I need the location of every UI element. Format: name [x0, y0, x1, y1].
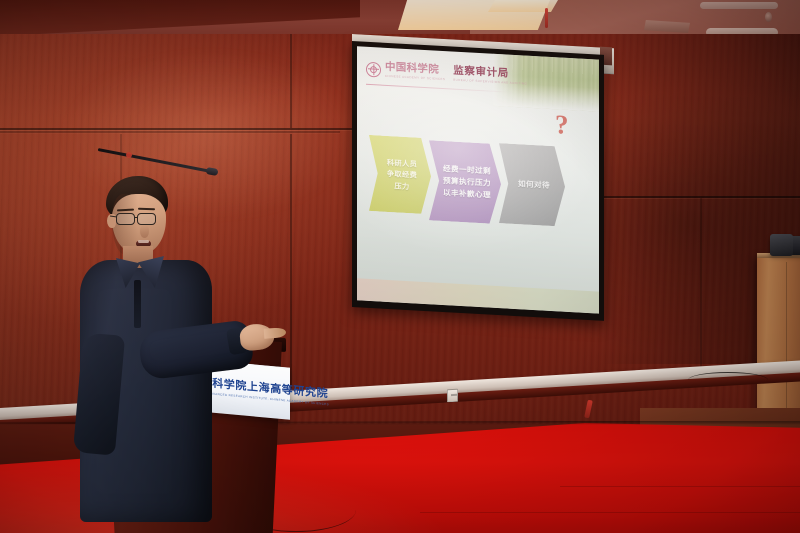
eyeglasses-icon: [137, 213, 156, 225]
wall-power-outlet-icon: [447, 389, 458, 403]
ceiling-sprinkler-icon: [765, 12, 772, 22]
speaker-teeth: [138, 240, 149, 243]
question-mark-graphic: ?: [555, 111, 569, 139]
speaker-nose: [140, 225, 149, 238]
chevron-gray: 如何对待: [499, 143, 565, 227]
ceiling-light-fixture: [700, 2, 778, 9]
eyeglasses-bridge: [135, 217, 138, 218]
cas-emblem-icon: [366, 61, 381, 77]
slide-dept-name-en: BUREAU OF SUPERVISION AND AUDITING: [453, 79, 527, 86]
carpet-seam: [560, 486, 800, 487]
chevron-text-line: 争取经费: [387, 168, 417, 181]
speaker-box: [770, 234, 793, 256]
ceiling-sprinkler-rod: [545, 8, 548, 28]
wall-panel-seam: [0, 128, 352, 130]
lecture-hall-photo: Redleaf 中国科学院 CHINESE ACADEMY OF SCIENCE…: [0, 0, 800, 533]
slide-header-texts: 中国科学院 CHINESE ACADEMY OF SCIENCES: [385, 62, 445, 81]
wall-panel-seam: [290, 134, 292, 408]
chevron-purple: 经费一时过剩 预算执行压力 以丰补歉心理: [429, 140, 501, 224]
speaker-person: [78, 176, 258, 533]
slide-chevron-group: 科研人员 争取经费 压力 经费一时过剩 预算执行压力 以丰补歉心理 如何对待: [369, 135, 565, 228]
wall-cable: [688, 372, 768, 388]
slide-dept-texts: 监察审计局 BUREAU OF SUPERVISION AND AUDITING: [449, 65, 527, 85]
slide-footer-band: [357, 278, 599, 313]
chevron-text-line: 以丰补歉心理: [443, 187, 491, 201]
carpet-seam: [420, 512, 800, 513]
chevron-text-line: 如何对待: [518, 178, 550, 192]
chevron-text-line: 压力: [394, 180, 409, 192]
slide-surface: 中国科学院 CHINESE ACADEMY OF SCIENCES 监察审计局 …: [357, 46, 599, 313]
speaker-shirt-placket: [134, 280, 141, 328]
cabinet-door-seam: [786, 262, 787, 432]
wall-panel-seam: [290, 34, 292, 128]
wall-panel-seam: [0, 131, 340, 133]
side-cabinet: [757, 258, 800, 433]
projection-screen: 中国科学院 CHINESE ACADEMY OF SCIENCES 监察审计局 …: [352, 41, 604, 321]
eyeglasses-icon: [116, 213, 135, 225]
slide-org-name-en: CHINESE ACADEMY OF SCIENCES: [385, 75, 445, 81]
chevron-yellow: 科研人员 争取经费 压力: [369, 135, 431, 214]
emblem-ring: [370, 65, 377, 72]
microphone-indicator-light: [126, 152, 132, 158]
